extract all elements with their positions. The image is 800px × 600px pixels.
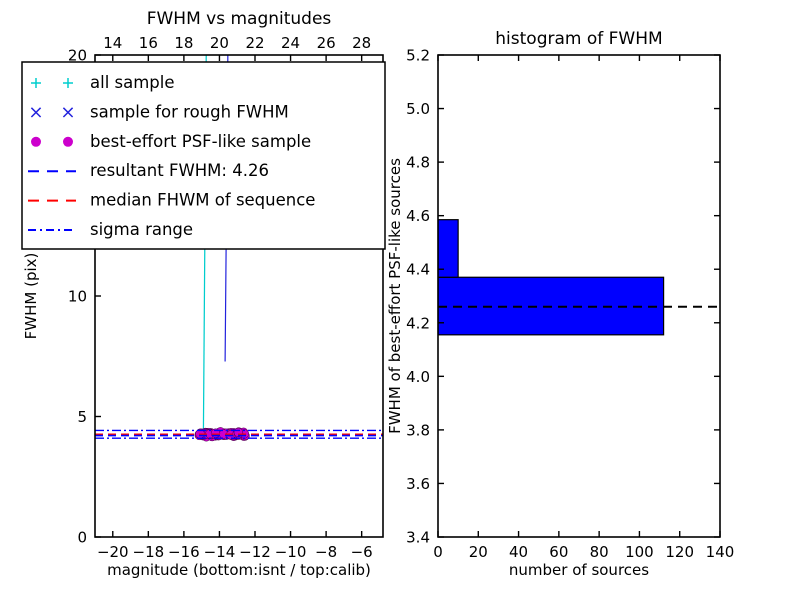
left-panel-xaxis-label: magnitude (bottom:isnt / top:calib) [107,561,371,579]
xtick-label: 60 [549,543,568,561]
xtick-label-top: 14 [103,34,122,52]
legend-label: sigma range [90,220,193,239]
legend-marker-circle-icon [31,137,41,147]
ytick-label: 4.6 [406,207,430,225]
legend-label: sample for rough FWHM [90,102,289,121]
legend-label: best-effort PSF-like sample [90,132,311,151]
legend-label: all sample [90,73,175,92]
right-panel-xaxis-label: number of sources [509,561,649,579]
xtick-label: −10 [275,543,307,561]
left-panel-title: FWHM vs magnitudes [147,9,332,29]
xtick-label: −14 [204,543,236,561]
xtick-label: 20 [469,543,488,561]
right-panel-title: histogram of FWHM [495,29,662,49]
ytick-label: 5.0 [406,100,430,118]
right-panel-xtick-labels: 020406080100120140 [433,543,734,561]
right-panel-histogram: 020406080100120140 3.43.63.84.04.24.44.6… [386,29,734,579]
ytick-label: 3.4 [406,529,430,547]
xtick-label: 80 [590,543,609,561]
xtick-label: −20 [97,543,129,561]
figure-canvas: −20−18−16−14−12−10−8−6 1416182022242628 … [0,0,800,600]
right-panel-ytick-labels: 3.43.63.84.04.24.44.64.85.05.2 [406,47,430,547]
right-panel-data-area [438,220,720,335]
legend-frame [22,62,385,249]
xtick-label: −16 [168,543,200,561]
ytick-label: 5 [77,408,87,426]
legend-label: median FHWM of sequence [90,191,315,210]
ytick-label: 4.2 [406,314,430,332]
xtick-label: 40 [509,543,528,561]
ytick-label: 4.4 [406,261,430,279]
xtick-label: −8 [315,543,337,561]
xtick-label-top: 28 [352,34,371,52]
ytick-label: 3.6 [406,475,430,493]
legend-marker-circle-icon [63,137,73,147]
xtick-label: 100 [625,543,654,561]
histogram-bars [438,220,664,335]
left-panel-yaxis-label: FWHM (pix) [22,253,40,340]
xtick-label-top: 16 [139,34,158,52]
ytick-label: 10 [68,288,87,306]
xtick-label: −6 [351,543,373,561]
xtick-label-top: 18 [174,34,193,52]
ytick-label: 4.0 [406,368,430,386]
legend-box: all samplesample for rough FWHMbest-effo… [22,62,385,249]
xtick-label: −12 [239,543,271,561]
xtick-label: 120 [665,543,694,561]
left-panel-xtick-labels-top: 1416182022242628 [103,34,371,52]
xtick-label-top: 22 [245,34,264,52]
ytick-label: 5.2 [406,47,430,65]
xtick-label: 0 [433,543,443,561]
ytick-label: 0 [77,529,87,547]
legend-label: resultant FWHM: 4.26 [90,161,269,180]
xtick-label-top: 20 [210,34,229,52]
left-panel-xtick-labels-bottom: −20−18−16−14−12−10−8−6 [97,543,373,561]
xtick-label: 140 [706,543,735,561]
xtick-label-top: 24 [281,34,300,52]
ytick-label: 3.8 [406,421,430,439]
ytick-label: 4.8 [406,154,430,172]
matplotlib-figure: −20−18−16−14−12−10−8−6 1416182022242628 … [0,0,800,600]
xtick-label: −18 [133,543,165,561]
xtick-label-top: 26 [317,34,336,52]
right-panel-yaxis-label: FWHM of best-effort PSF-like sources [386,158,404,434]
